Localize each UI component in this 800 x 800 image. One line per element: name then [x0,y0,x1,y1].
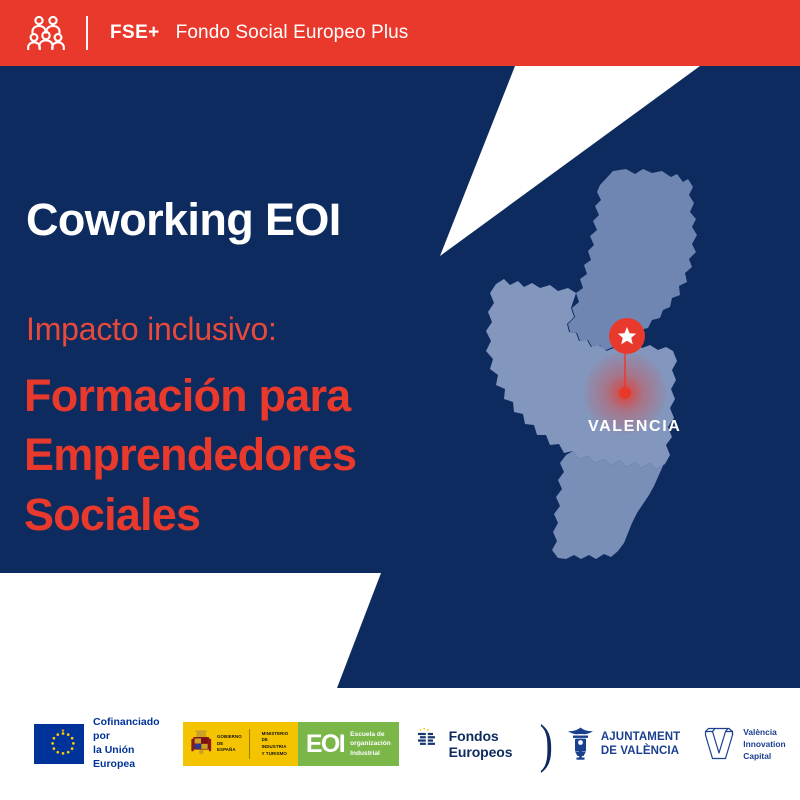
logo-row: Cofinanciado por la Unión Europea [34,716,800,771]
hero-headline: Formación para Emprendedores Sociales [24,366,454,544]
logo-ajuntament-valencia: AJUNTAMENT DE VALÈNCIA [567,726,680,762]
logo-gobierno-espana: GOBIERNO DE ESPAÑA MINISTERIO DE INDUSTR… [183,722,298,766]
map-province-alicante [552,451,666,559]
logo-ministerio-label: MINISTERIO DE INDUSTRIA Y TURISMO [262,731,291,757]
fondos-europeos-icon [416,727,441,761]
valencia-coat-of-arms-icon [567,726,594,762]
program-name: Fondo Social Europeo Plus [176,22,409,44]
logo-separator-icon: ) [540,717,553,771]
eu-flag-icon [34,724,84,764]
footer-logo-strip: Cofinanciado por la Unión Europea [0,688,800,800]
decorative-wedge-bottom [0,560,400,695]
map-pin-stem [624,350,626,392]
v-monogram-icon [702,726,736,762]
logo-fondos-label: Fondos Europeos [449,728,526,760]
program-tag: FSE+ [110,22,160,44]
logo-vic-label: València Innovation Capital [743,726,785,763]
logo-ajuntament-label: AJUNTAMENT DE VALÈNCIA [601,730,680,759]
star-pin-icon [609,318,645,354]
logo-eoi-label: Escuela de organización Industrial [350,730,391,759]
logo-eu-cofinanced: Cofinanciado por la Unión Europea [34,716,168,771]
logo-eoi: EOI Escuela de organización Industrial [298,722,399,766]
map-pin-dot [619,387,631,399]
spain-coat-of-arms-icon [190,728,213,760]
page-title: Coworking EOI [26,196,341,243]
logo-gobierno-divider [249,729,250,759]
map-city-label: VALENCIA [588,418,681,436]
header-bar: FSE+ Fondo Social Europeo Plus [0,0,800,66]
people-group-icon [26,13,66,53]
header-divider [86,16,88,50]
hero-subtitle: Impacto inclusivo: [26,311,277,348]
logo-gobierno-label: GOBIERNO DE ESPAÑA [217,734,242,754]
logo-eu-label: Cofinanciado por la Unión Europea [93,716,167,771]
eoi-wordmark: EOI [306,732,344,757]
logo-fondos-europeos: Fondos Europeos [416,727,526,761]
logo-valencia-innovation-capital: València Innovation Capital [702,726,785,763]
poster-canvas: FSE+ Fondo Social Europeo Plus VALENCIA … [0,0,800,800]
hero-left-block [0,66,345,656]
